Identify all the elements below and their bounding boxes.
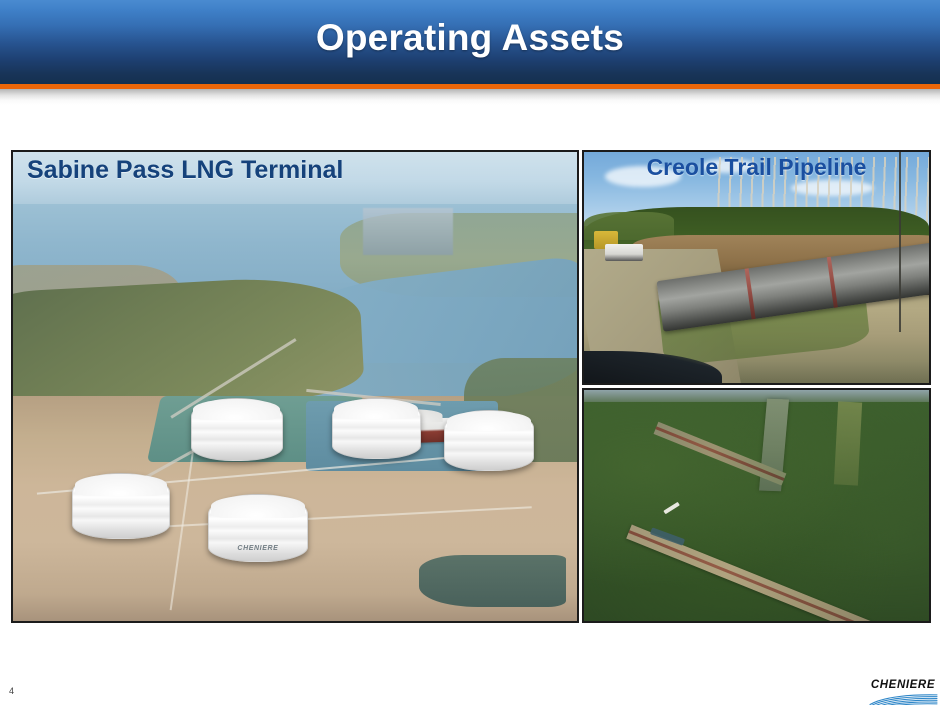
pipe-weld-joint: [827, 257, 838, 308]
slide: Operating Assets CHENIERE Sabine Pass LN…: [0, 0, 940, 705]
pipe-weld-joint: [744, 269, 755, 320]
photo-creole-trail-pipeline-construction: Creole Trail Pipeline: [582, 150, 931, 385]
marsh-peninsula: [11, 274, 366, 415]
caption-sabine-pass-lng-terminal: Sabine Pass LNG Terminal: [27, 156, 343, 185]
photo-pipeline-right-of-way-aerial: [582, 388, 931, 623]
photo-sabine-pass-lng-terminal: CHENIERE Sabine Pass LNG Terminal: [11, 150, 579, 623]
cheniere-logo: CHENIERE: [866, 679, 940, 705]
header-drop-shadow: [0, 89, 940, 105]
pickup-truck: [605, 244, 643, 260]
page-title: Operating Assets: [0, 0, 940, 84]
lng-storage-tank: [72, 473, 170, 538]
caption-creole-trail-pipeline: Creole Trail Pipeline: [584, 154, 929, 181]
secondary-clearing: [834, 401, 862, 485]
lng-storage-tank: [444, 410, 533, 471]
cheniere-swoosh-icon: [868, 693, 938, 705]
tank-brand-label: CHENIERE: [222, 545, 293, 552]
lng-storage-tank: [332, 398, 421, 459]
slide-header-banner: Operating Assets: [0, 0, 940, 84]
cheniere-wordmark: CHENIERE: [866, 679, 940, 691]
distant-industrial-plant: [363, 208, 453, 255]
lng-storage-tank: [191, 398, 283, 461]
lng-storage-tank: CHENIERE: [208, 494, 309, 562]
page-number: 4: [9, 686, 14, 696]
retention-pond: [419, 555, 566, 607]
